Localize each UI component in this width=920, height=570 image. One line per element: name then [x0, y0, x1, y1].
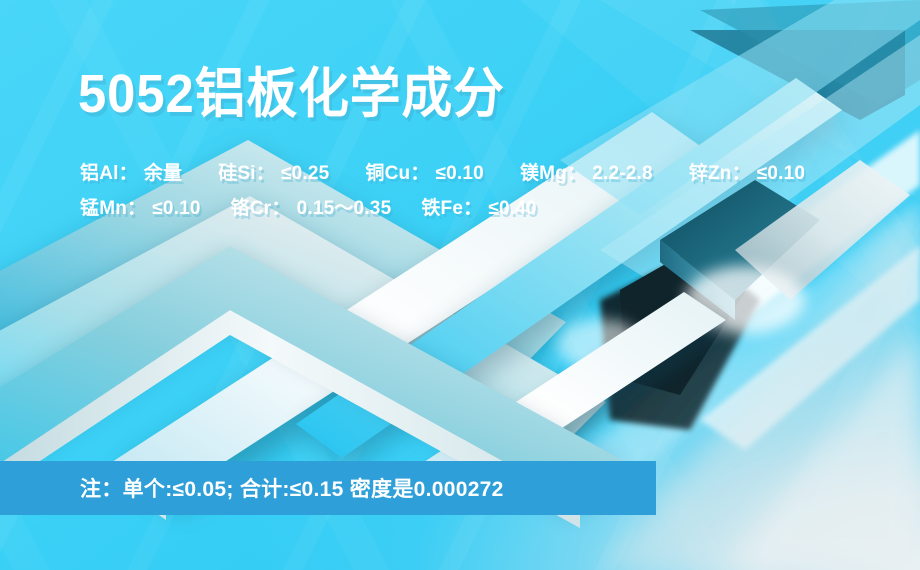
poster-canvas: 5052铝板化学成分 铝Al： 余量 硅Si： ≤0.25 铜Cu： ≤0.10… — [0, 0, 920, 570]
composition-item-al: 铝Al： 余量 — [80, 158, 182, 185]
chemical-composition-list: 铝Al： 余量 硅Si： ≤0.25 铜Cu： ≤0.10 镁Mg： 2.2-2… — [80, 158, 910, 228]
element-label: 铜Cu： — [365, 158, 429, 185]
element-label: 锰Mn： — [80, 193, 146, 220]
element-label: 铁Fe： — [421, 193, 482, 220]
element-value: 余量 — [144, 158, 182, 185]
composition-item-mn: 锰Mn： ≤0.10 — [80, 193, 201, 220]
composition-item-zn: 锌Zn： ≤0.10 — [689, 158, 805, 185]
page-title: 5052铝板化学成分 — [78, 66, 505, 123]
element-label: 锌Zn： — [689, 158, 751, 185]
composition-item-mg: 镁Mg： 2.2-2.8 — [520, 158, 653, 185]
composition-item-fe: 铁Fe： ≤0.40 — [421, 193, 536, 220]
element-value: 0.15～0.35 — [297, 193, 392, 220]
element-value: ≤0.10 — [436, 163, 484, 185]
composition-item-si: 硅Si： ≤0.25 — [218, 158, 329, 185]
composition-row: 铝Al： 余量 硅Si： ≤0.25 铜Cu： ≤0.10 镁Mg： 2.2-2… — [80, 158, 910, 185]
note-text: 注：单个:≤0.05; 合计:≤0.15 密度是0.000272 — [80, 473, 504, 503]
element-label: 铝Al： — [80, 158, 138, 185]
note-bar: 注：单个:≤0.05; 合计:≤0.15 密度是0.000272 — [0, 461, 656, 515]
element-label: 硅Si： — [218, 158, 275, 185]
element-value: ≤0.10 — [152, 198, 200, 220]
element-value: 2.2-2.8 — [592, 163, 653, 185]
composition-row: 锰Mn： ≤0.10 铬Cr： 0.15～0.35 铁Fe： ≤0.40 — [80, 193, 910, 220]
element-value: ≤0.10 — [757, 163, 805, 185]
element-value: ≤0.40 — [488, 198, 536, 220]
element-label: 镁Mg： — [520, 158, 586, 185]
element-value: ≤0.25 — [281, 163, 329, 185]
composition-item-cu: 铜Cu： ≤0.10 — [365, 158, 484, 185]
element-label: 铬Cr： — [231, 193, 291, 220]
composition-item-cr: 铬Cr： 0.15～0.35 — [231, 193, 392, 220]
